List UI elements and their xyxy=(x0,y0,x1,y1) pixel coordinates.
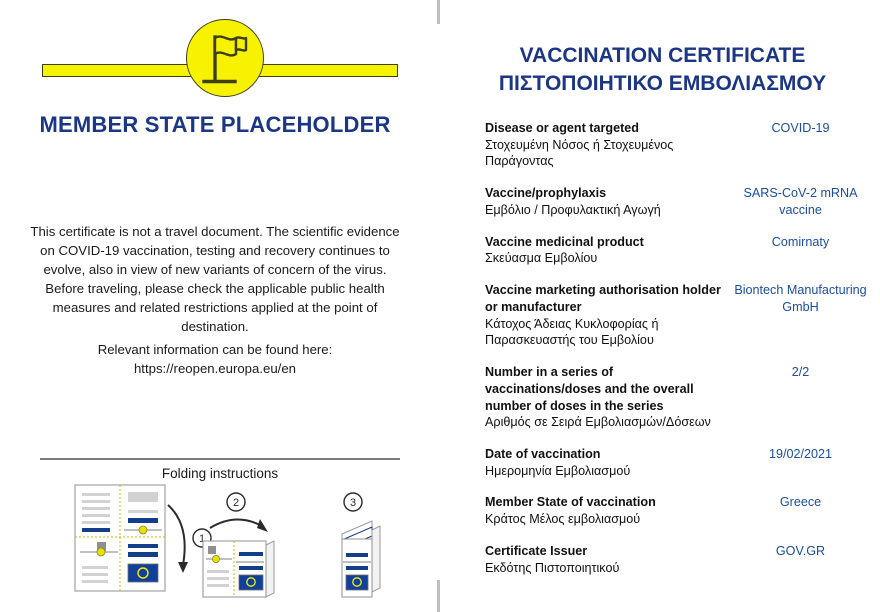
relevant-info-url[interactable]: https://reopen.europa.eu/en xyxy=(28,359,402,378)
field-labels: Vaccine medicinal product Σκεύασμα Εμβολ… xyxy=(485,234,725,267)
field-row-date-of-vaccination: Date of vaccination Ημερομηνία Εμβολιασμ… xyxy=(485,446,880,479)
field-label-en: Vaccine marketing authorisation holder o… xyxy=(485,282,725,315)
field-labels: Vaccine marketing authorisation holder o… xyxy=(485,282,725,349)
folding-step-3-sheet xyxy=(342,521,380,597)
field-value: 2/2 xyxy=(725,364,880,381)
field-label-en: Disease or agent targeted xyxy=(485,120,725,137)
field-row-vaccine-prophylaxis: Vaccine/prophylaxis Εμβόλιο / Προφυλακτι… xyxy=(485,185,880,218)
right-panel: VACCINATION CERTIFICATE ΠΙΣΤΟΠΟΙΗΤΙΚΟ ΕΜ… xyxy=(455,0,880,612)
field-label-el: Εκδότης Πιστοποιητικού xyxy=(485,560,725,577)
certificate-title-en: VACCINATION CERTIFICATE xyxy=(455,42,870,70)
certificate-title-el: ΠΙΣΤΟΠΟΙΗΤΙΚΟ ΕΜΒΟΛΙΑΣΜΟΥ xyxy=(455,70,870,98)
field-label-el: Κράτος Μέλος εμβολιασμού xyxy=(485,511,725,528)
field-row-member-state: Member State of vaccination Κράτος Μέλος… xyxy=(485,494,880,527)
field-label-en: Date of vaccination xyxy=(485,446,725,463)
field-label-el: Εμβόλιο / Προφυλακτική Αγωγή xyxy=(485,202,725,219)
relevant-info-label: Relevant information can be found here: xyxy=(28,340,402,359)
field-value: SARS-CoV-2 mRNA vaccine xyxy=(725,185,880,218)
left-panel: MEMBER STATE PLACEHOLDER This certificat… xyxy=(0,0,430,612)
flag-on-pole-icon xyxy=(186,19,264,97)
folding-divider xyxy=(40,458,400,460)
field-row-medicinal-product: Vaccine medicinal product Σκεύασμα Εμβολ… xyxy=(485,234,880,267)
field-value: Biontech Manufacturing GmbH xyxy=(725,282,880,315)
field-row-marketing-authorisation: Vaccine marketing authorisation holder o… xyxy=(485,282,880,349)
field-value: Comirnaty xyxy=(725,234,880,251)
fold-mark-bottom xyxy=(437,580,440,612)
field-labels: Member State of vaccination Κράτος Μέλος… xyxy=(485,494,725,527)
certificate-title: VACCINATION CERTIFICATE ΠΙΣΤΟΠΟΙΗΤΙΚΟ ΕΜ… xyxy=(455,42,870,98)
svg-text:2: 2 xyxy=(233,497,239,509)
field-row-dose-number: Number in a series of vaccinations/doses… xyxy=(485,364,880,431)
field-labels: Vaccine/prophylaxis Εμβόλιο / Προφυλακτι… xyxy=(485,185,725,218)
folding-step-1-sheet xyxy=(75,485,165,591)
field-label-en: Number in a series of vaccinations/doses… xyxy=(485,364,725,414)
field-label-el: Κάτοχος Άδειας Κυκλοφορίας ή Παρασκευαστ… xyxy=(485,316,725,349)
disclaimer-text: This certificate is not a travel documen… xyxy=(28,222,402,336)
field-row-certificate-issuer: Certificate Issuer Εκδότης Πιστοποιητικο… xyxy=(485,543,880,576)
field-label-en: Certificate Issuer xyxy=(485,543,725,560)
field-label-en: Member State of vaccination xyxy=(485,494,725,511)
folding-step-2-sheet xyxy=(203,541,274,597)
field-value: GOV.GR xyxy=(725,543,880,560)
svg-text:3: 3 xyxy=(350,497,356,509)
field-value: Greece xyxy=(725,494,880,511)
field-value: 19/02/2021 xyxy=(725,446,880,463)
field-value: COVID-19 xyxy=(725,120,880,137)
folding-instructions-diagram: 1 2 xyxy=(40,480,410,600)
field-labels: Disease or agent targeted Στοχευμένη Νόσ… xyxy=(485,120,725,170)
field-row-disease: Disease or agent targeted Στοχευμένη Νόσ… xyxy=(485,120,880,170)
field-labels: Date of vaccination Ημερομηνία Εμβολιασμ… xyxy=(485,446,725,479)
field-label-en: Vaccine medicinal product xyxy=(485,234,725,251)
field-labels: Certificate Issuer Εκδότης Πιστοποιητικο… xyxy=(485,543,725,576)
field-label-el: Ημερομηνία Εμβολιασμού xyxy=(485,463,725,480)
field-labels: Number in a series of vaccinations/doses… xyxy=(485,364,725,431)
fold-mark-top xyxy=(437,0,440,24)
member-state-title: MEMBER STATE PLACEHOLDER xyxy=(0,112,430,138)
folding-instructions-heading: Folding instructions xyxy=(40,466,400,481)
certificate-page: MEMBER STATE PLACEHOLDER This certificat… xyxy=(0,0,880,612)
certificate-fields-list: Disease or agent targeted Στοχευμένη Νόσ… xyxy=(485,120,880,591)
field-label-el: Αριθμός σε Σειρά Εμβολιασμών/Δόσεων xyxy=(485,414,725,431)
field-label-en: Vaccine/prophylaxis xyxy=(485,185,725,202)
member-state-emblem xyxy=(0,8,430,108)
relevant-information-block: Relevant information can be found here: … xyxy=(28,340,402,378)
field-label-el: Σκεύασμα Εμβολίου xyxy=(485,250,725,267)
field-label-el: Στοχευμένη Νόσος ή Στοχευμένος Παράγοντα… xyxy=(485,137,725,170)
